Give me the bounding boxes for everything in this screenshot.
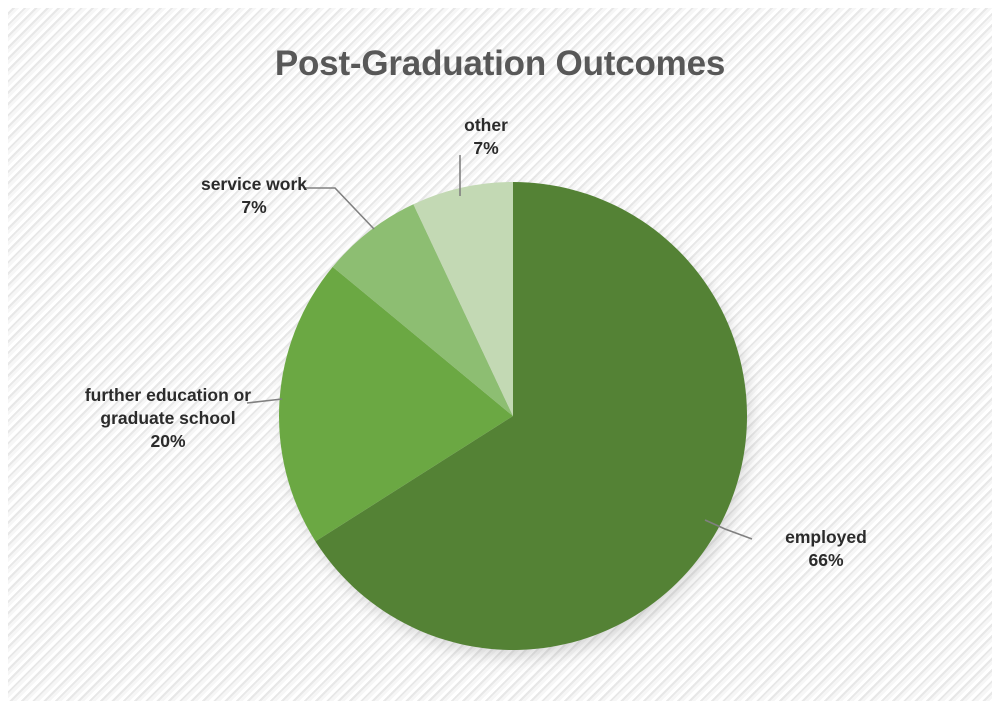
slice-label-service-work-percent: 7%	[194, 196, 314, 219]
slice-label-other: other 7%	[446, 114, 526, 160]
slice-label-service-work: service work 7%	[194, 173, 314, 219]
slice-label-employed-name: employed	[756, 526, 896, 549]
slice-label-employed-percent: 66%	[756, 549, 896, 572]
slice-label-further-education-line1: further education or	[66, 384, 270, 407]
slice-label-further-education: further education or graduate school 20%	[66, 384, 270, 453]
slice-label-other-name: other	[446, 114, 526, 137]
slice-label-further-education-line2: graduate school	[66, 407, 270, 430]
slice-label-service-work-name: service work	[194, 173, 314, 196]
chart-title: Post-Graduation Outcomes	[8, 44, 992, 84]
pie-chart	[279, 182, 747, 650]
pie-svg	[279, 182, 747, 650]
slice-label-employed: employed 66%	[756, 526, 896, 572]
slice-label-further-education-percent: 20%	[66, 430, 270, 453]
slice-label-other-percent: 7%	[446, 137, 526, 160]
chart-canvas: Post-Graduation Outcomes other 7% servic…	[8, 8, 992, 701]
